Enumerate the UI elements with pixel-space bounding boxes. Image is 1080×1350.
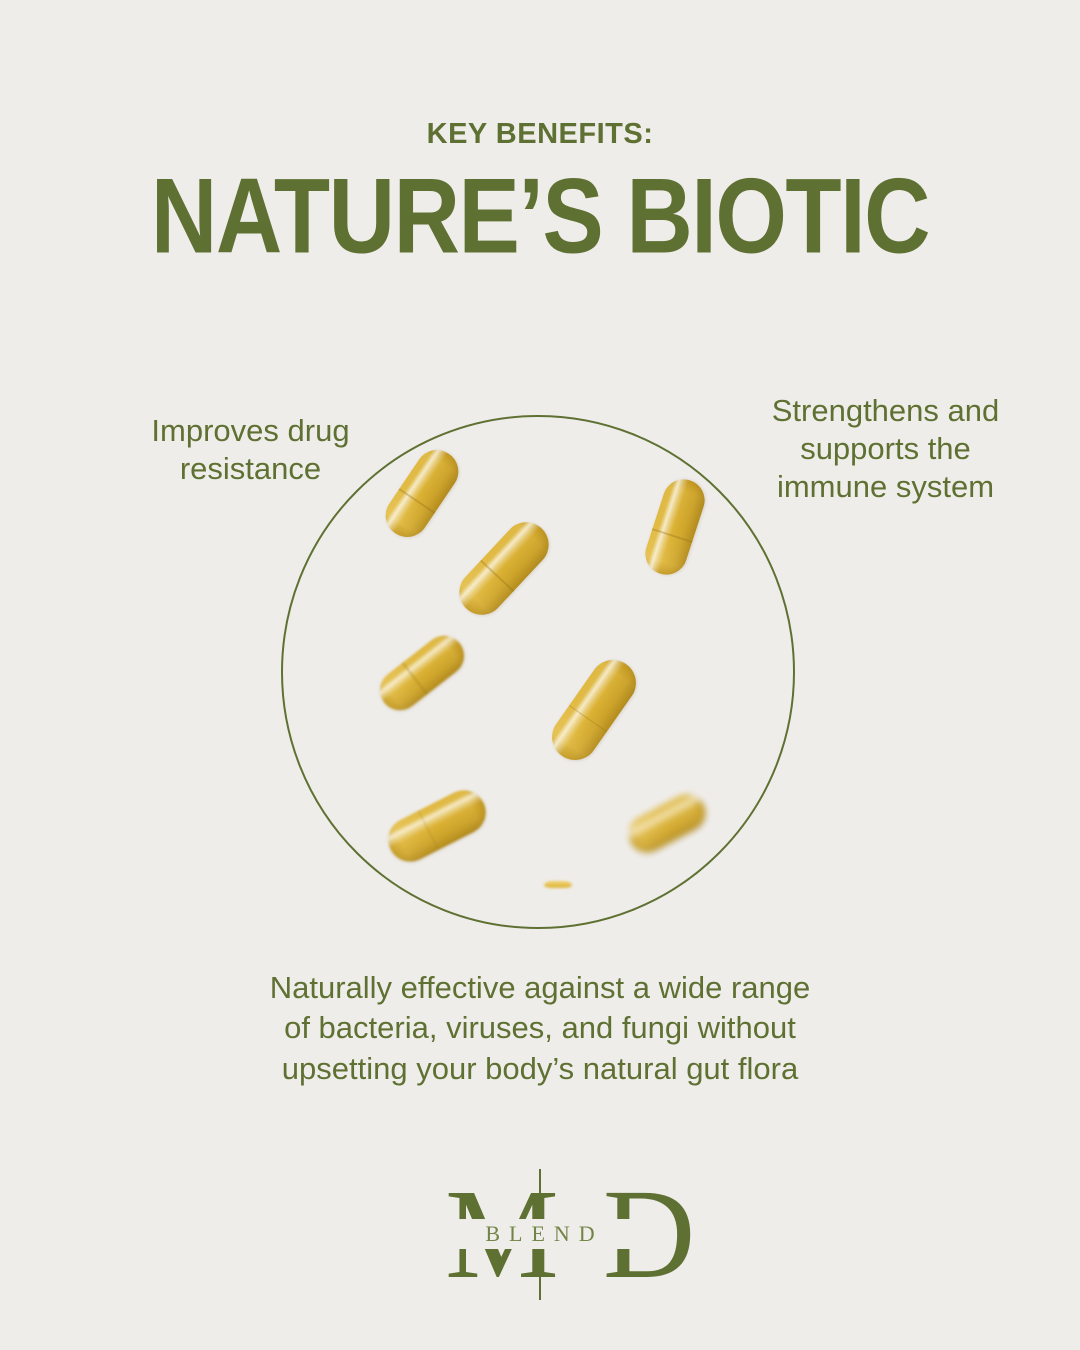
- product-image: [281, 415, 795, 929]
- eyebrow-label: KEY BENEFITS:: [0, 118, 1080, 151]
- benefit-label-right: Strengthens and supports the immune syst…: [768, 392, 1003, 505]
- page-title: NATURE’S BIOTIC: [0, 163, 1080, 270]
- benefit-description-line-2: of bacteria, viruses, and fungi without: [0, 1008, 1080, 1048]
- poster-canvas: KEY BENEFITS: NATURE’S BIOTIC Improves d…: [0, 0, 1080, 1350]
- brand-logo: M D BLEND: [0, 1172, 1080, 1297]
- benefit-description-line-3: upsetting your body’s natural gut flora: [0, 1049, 1080, 1089]
- header-block: KEY BENEFITS: NATURE’S BIOTIC: [0, 118, 1080, 255]
- brand-wordmark: BLEND: [441, 1219, 639, 1249]
- benefit-description: Naturally effective against a wide range…: [0, 968, 1080, 1089]
- brand-logo-inner: M D BLEND: [445, 1172, 635, 1297]
- circle-outline: [281, 415, 795, 929]
- benefit-description-line-1: Naturally effective against a wide range: [0, 968, 1080, 1008]
- capsule-fragment: [544, 881, 572, 888]
